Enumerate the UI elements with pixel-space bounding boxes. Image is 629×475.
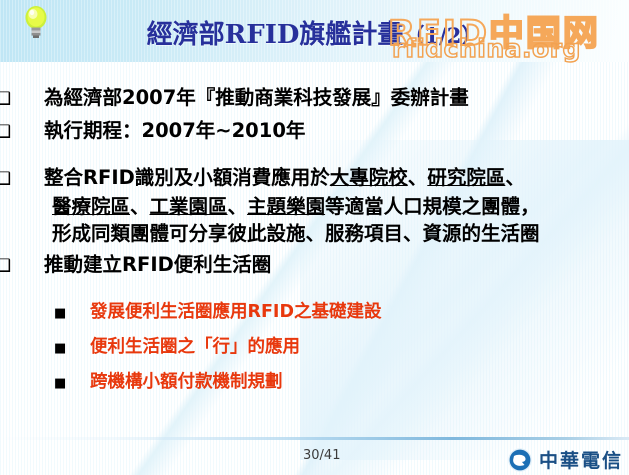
- bullet-marker-icon: ❑: [24, 86, 44, 113]
- sub-bullet-item: ■跨機構小額付款機制規劃: [0, 370, 629, 396]
- bullet-marker-icon: ❑: [24, 119, 44, 146]
- page-title-marker: （1/2）: [403, 23, 482, 48]
- bullet-item: ❑執行期程：2007年~2010年: [0, 117, 629, 146]
- slide-body: ❑為經濟部2007年『推動商業科技發展』委辦計畫 ❑執行期程：2007年~201…: [0, 62, 629, 405]
- bullet-text: 整合RFID識別及小額消費應用於大專院校、研究院區、醫療院區、工業園區、主題樂園…: [44, 166, 540, 245]
- company-logo: 中華電信: [508, 446, 623, 473]
- bullet-segment-underlined: 大專院校: [330, 166, 408, 189]
- sub-bullet-item: ■便利生活圈之「行」的應用: [0, 335, 629, 361]
- bullet-segment: 、: [228, 195, 248, 218]
- page-number: 30/41: [303, 448, 340, 463]
- slide-canvas: 經濟部RFID旗艦計畫（1/2） RFID中国网 rfidchina.org ❑…: [0, 0, 629, 475]
- bullet-marker-icon: ❑: [24, 253, 44, 280]
- bullet-item: ❑為經濟部2007年『推動商業科技發展』委辦計畫: [0, 84, 629, 113]
- bullet-segment-underlined: 主題樂園: [247, 195, 325, 218]
- bullet-segment: 、: [505, 166, 525, 189]
- bullet-text: 推動建立RFID便利生活圈: [44, 253, 271, 276]
- sub-bullet-text: 便利生活圈之「行」的應用: [90, 337, 300, 357]
- bullet-item: ❑推動建立RFID便利生活圈: [0, 251, 629, 280]
- footer-divider: [0, 437, 629, 440]
- bullet-segment-underlined: 研究院區: [427, 166, 505, 189]
- bullet-text: 執行期程：2007年~2010年: [44, 119, 305, 142]
- sub-bullet-item: ■發展便利生活圈應用RFID之基礎建設: [0, 300, 629, 326]
- page-title: 經濟部RFID旗艦計畫（1/2）: [0, 14, 629, 51]
- bullet-segment: 整合RFID識別及小額消費應用於: [44, 166, 330, 189]
- sub-bullet-text: 發展便利生活圈應用RFID之基礎建設: [90, 302, 381, 322]
- company-logo-text: 中華電信: [539, 446, 623, 473]
- bullet-segment: 等適當人口規模之團體，: [325, 195, 540, 218]
- bullet-segment-underlined: 工業園區: [150, 195, 228, 218]
- bullet-segment-underlined: 醫療院區: [52, 195, 130, 218]
- bullet-segment: 形成同類團體可分享彼此設施、服務項目、資源的生活圈: [52, 222, 540, 245]
- sub-bullet-marker-icon: ■: [72, 371, 90, 396]
- bullet-segment: 、: [130, 195, 150, 218]
- sub-bullet-marker-icon: ■: [72, 301, 90, 326]
- bullet-item: ❑整合RFID識別及小額消費應用於大專院校、研究院區、醫療院區、工業園區、主題樂…: [0, 164, 629, 247]
- page-title-main: 經濟部RFID旗艦計畫: [147, 20, 404, 50]
- sub-bullet-marker-icon: ■: [72, 336, 90, 361]
- bullet-text: 為經濟部2007年『推動商業科技發展』委辦計畫: [44, 86, 469, 109]
- cht-swirl-logo-icon: [508, 448, 532, 472]
- bullet-segment: 、: [408, 166, 428, 189]
- bullet-marker-icon: ❑: [24, 166, 44, 193]
- sub-bullet-text: 跨機構小額付款機制規劃: [90, 372, 283, 392]
- lightbulb-icon: [21, 4, 51, 40]
